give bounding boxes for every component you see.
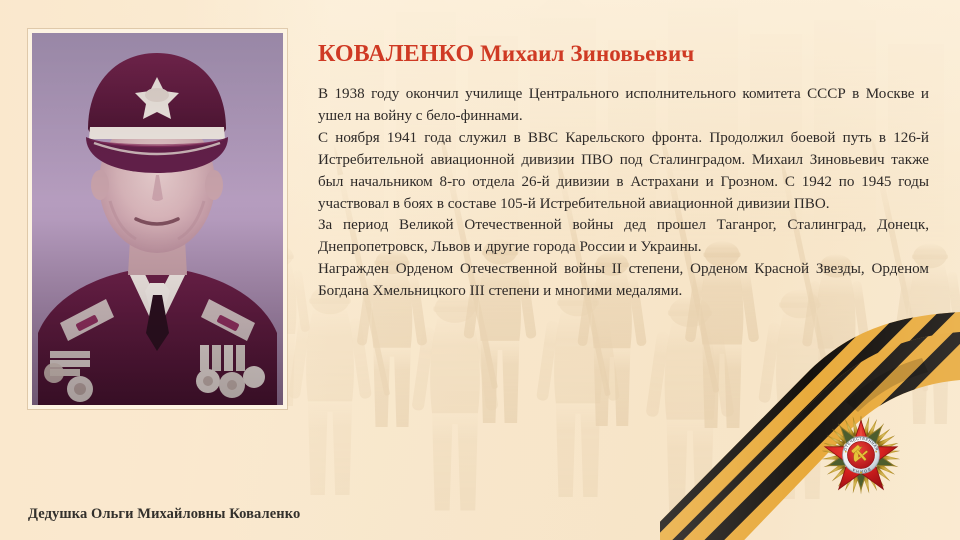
portrait-photo <box>32 33 283 405</box>
order-of-patriotic-war-icon: ОТЕЧЕСТВЕННАЯ ВОЙНА <box>820 414 902 496</box>
title-surname: КОВАЛЕНКО <box>318 41 474 67</box>
photo-caption: Дедушка Ольги Михайловны Коваленко <box>28 506 300 523</box>
st-george-ribbon <box>660 310 960 540</box>
memorial-slide: КОВАЛЕНКО Михаил Зиновьевич В 1938 году … <box>0 0 960 540</box>
biography-paragraph: За период Великой Отечественной войны де… <box>318 215 929 259</box>
biography-paragraph: С ноября 1941 года служил в ВВС Карельск… <box>318 128 929 216</box>
title-given-name: Михаил Зиновьевич <box>480 41 694 66</box>
biography-paragraph: В 1938 году окончил училище Центрального… <box>318 84 929 128</box>
biography-text: В 1938 году окончил училище Центрального… <box>318 84 929 303</box>
page-title: КОВАЛЕНКО Михаил Зиновьевич <box>318 41 938 69</box>
biography-paragraph: Награжден Орденом Отечественной войны II… <box>318 259 929 303</box>
portrait-frame <box>28 29 287 409</box>
